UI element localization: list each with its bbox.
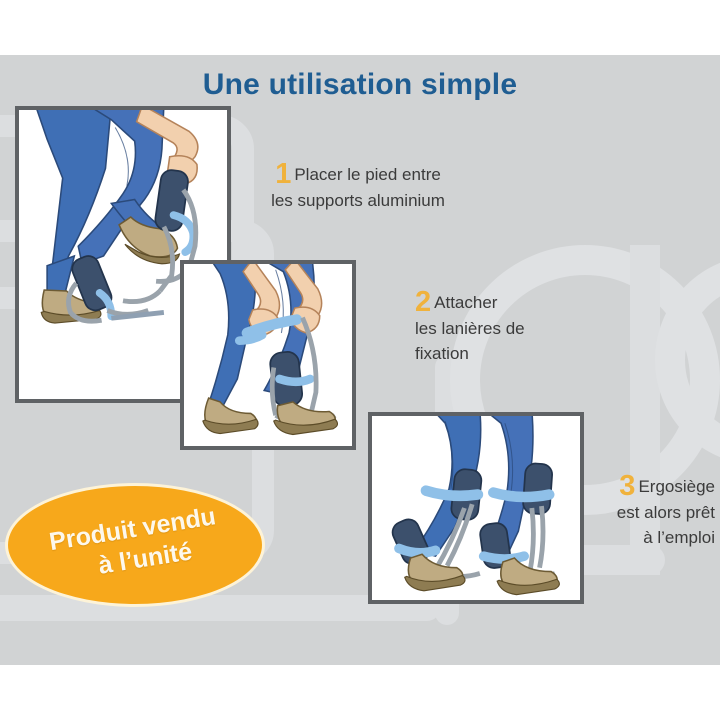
step-3-line-2: est alors prêt — [617, 503, 715, 522]
step-2-line-2: les lanières de — [415, 319, 525, 338]
step-2-line-1: Attacher — [434, 293, 497, 312]
product-infographic: Une utilisation simple — [0, 0, 720, 720]
step-3-line-3: à l’emploi — [643, 528, 715, 547]
step-2-caption: 2Attacher les lanières de fixation — [415, 288, 585, 366]
illustration-panel-step-2 — [180, 260, 356, 450]
step-1-number: 1 — [275, 158, 291, 190]
promo-badge: Produit vendu à l’unité — [8, 486, 262, 604]
step-1-caption: 1Placer le pied entre les supports alumi… — [243, 160, 473, 214]
illustration-panel-step-3 — [368, 412, 584, 604]
page-title: Une utilisation simple — [0, 68, 720, 102]
step-1-line-1: Placer le pied entre — [294, 165, 440, 184]
step-3-caption: 3Ergosiège est alors prêt à l’emploi — [575, 472, 715, 550]
step-2-number: 2 — [415, 286, 431, 318]
illustration-step-2 — [184, 264, 352, 446]
step-1-line-2: les supports aluminium — [271, 191, 445, 210]
illustration-step-3 — [372, 416, 580, 600]
step-2-line-3: fixation — [415, 344, 469, 363]
step-3-line-1: Ergosiège — [638, 477, 715, 496]
step-3-number: 3 — [619, 470, 635, 502]
